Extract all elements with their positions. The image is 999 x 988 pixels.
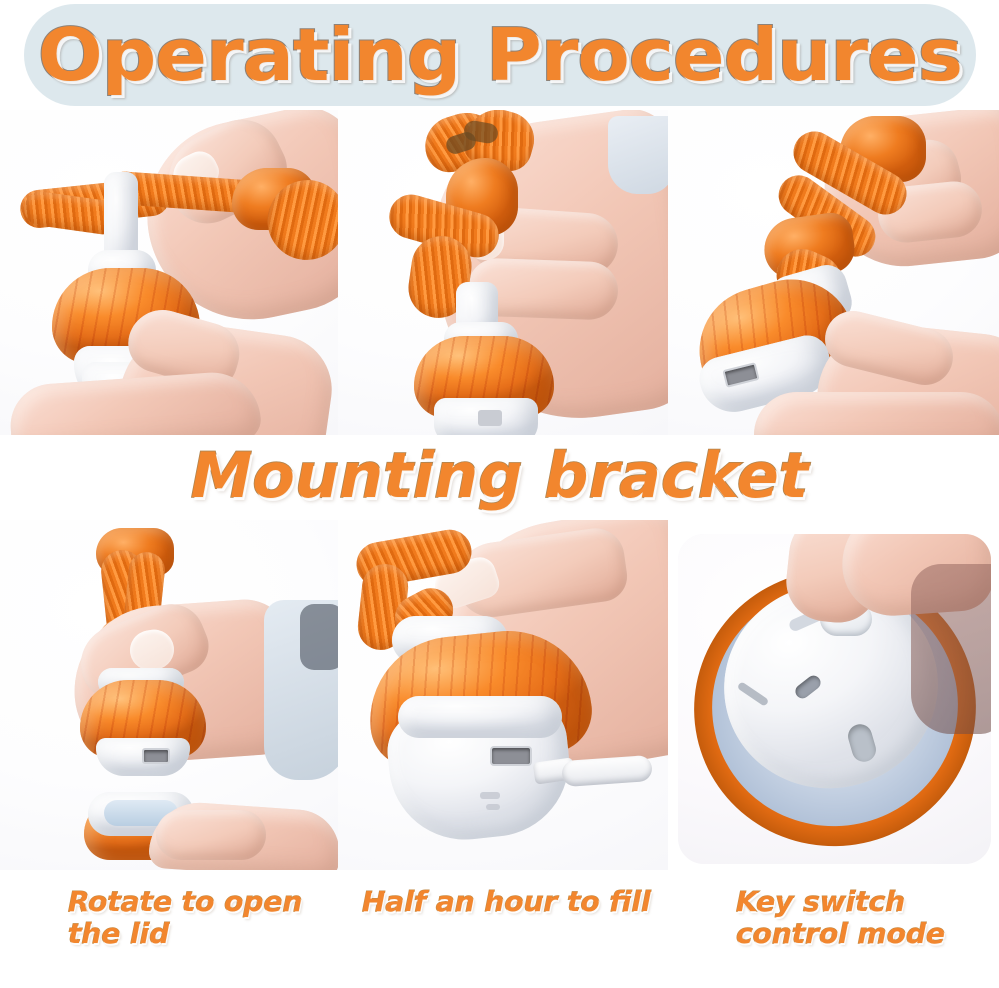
photo-row-bottom [0, 520, 999, 870]
panel-5-photo [338, 520, 668, 870]
caption-row: Rotate to open the lid Half an hour to f… [0, 872, 999, 988]
panel-6-photo [678, 534, 991, 864]
photo-row-top [0, 110, 999, 435]
panel-1 [0, 110, 338, 435]
mounting-bracket-heading: Mounting bracket [0, 436, 999, 514]
panel-3-photo [668, 110, 999, 435]
panel-6 [668, 520, 999, 870]
panel-3 [668, 110, 999, 435]
panel-4-photo [0, 520, 338, 870]
panel-4 [0, 520, 338, 870]
infographic-page: Operating Procedures [0, 0, 999, 988]
panel-2 [338, 110, 668, 435]
panel-2-photo [338, 110, 668, 435]
caption-rotate-to-open-the-lid: Rotate to open the lid [68, 886, 338, 951]
panel-5 [338, 520, 668, 870]
panel-1-photo [0, 110, 338, 435]
page-title: Operating Procedures [0, 4, 999, 106]
caption-key-switch-control-mode: Key switch control mode [736, 886, 986, 951]
caption-half-an-hour-to-fill: Half an hour to fill [362, 886, 662, 918]
